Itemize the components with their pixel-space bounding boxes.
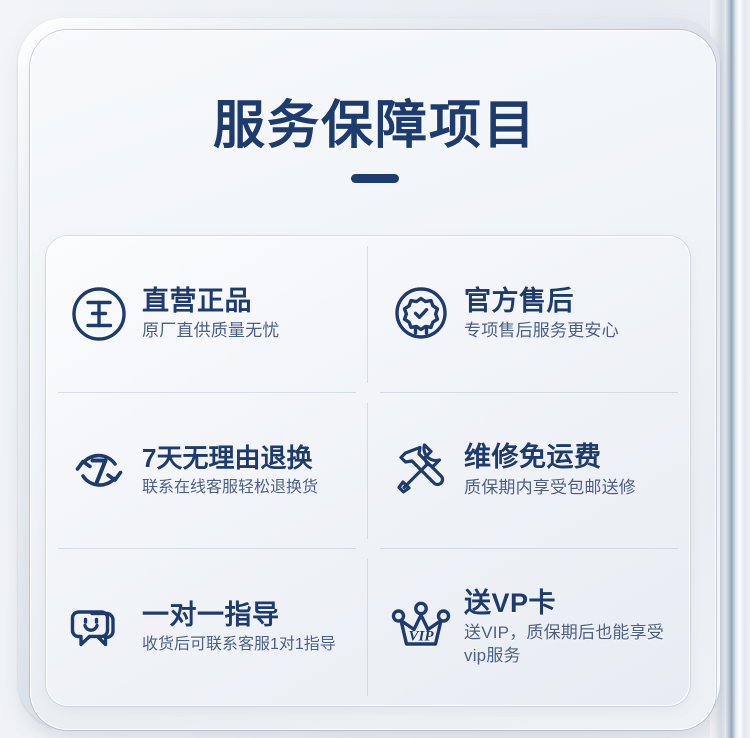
- feature-item-one-on-one-guidance[interactable]: 一对一指导 收货后可联系客服1对1指导: [46, 549, 368, 706]
- circle-zheng-character-icon: [68, 283, 130, 345]
- feature-text: 送VP卡 送VIP，质保期后也能享受vip服务: [464, 588, 680, 668]
- feature-title: 送VP卡: [464, 588, 680, 618]
- feature-title: 一对一指导: [142, 600, 358, 630]
- feature-title: 官方售后: [464, 286, 680, 316]
- official-badge-check-icon: [390, 283, 452, 345]
- wrench-screwdriver-icon: [390, 440, 452, 502]
- feature-text: 一对一指导 收货后可联系客服1对1指导: [142, 600, 358, 656]
- feature-text: 直营正品 原厂直供质量无忧: [142, 286, 358, 343]
- feature-subtitle: 收货后可联系客服1对1指导: [142, 634, 358, 655]
- feature-text: 官方售后 专项售后服务更安心: [464, 286, 680, 343]
- feature-item-official-service[interactable]: 官方售后 专项售后服务更安心: [368, 236, 690, 393]
- feature-subtitle: 质保期内享受包邮送修: [464, 477, 680, 500]
- feature-text: 7天无理由退换 联系在线客服轻松退换货: [142, 444, 358, 499]
- feature-item-vip-card[interactable]: VIP 送VP卡 送VIP，质保期后也能享受vip服务: [368, 549, 690, 706]
- feature-text: 维修免运费 质保期内享受包邮送修: [464, 442, 680, 499]
- feature-item-free-repair-shipping[interactable]: 维修免运费 质保期内享受包邮送修: [368, 393, 690, 550]
- feature-subtitle: 送VIP，质保期后也能享受vip服务: [464, 622, 679, 668]
- title-underline-accent: [351, 174, 399, 183]
- features-panel: 直营正品 原厂直供质量无忧 官方售后 专项售后服务: [46, 236, 690, 706]
- vip-crown-label: VIP: [408, 628, 434, 644]
- vip-crown-icon: VIP: [390, 597, 452, 659]
- feature-item-seven-day-return[interactable]: 7天无理由退换 联系在线客服轻松退换货: [46, 393, 368, 550]
- page-title: 服务保障项目: [0, 100, 750, 152]
- page-header: 服务保障项目: [0, 100, 750, 183]
- feature-subtitle: 联系在线客服轻松退换货: [142, 477, 358, 498]
- features-grid: 直营正品 原厂直供质量无忧 官方售后 专项售后服务: [46, 236, 690, 706]
- feature-title: 直营正品: [142, 286, 358, 316]
- feature-item-authentic[interactable]: 直营正品 原厂直供质量无忧: [46, 236, 368, 393]
- chat-bubble-smile-icon: [68, 597, 130, 659]
- feature-subtitle: 原厂直供质量无忧: [142, 320, 358, 343]
- feature-title: 维修免运费: [464, 442, 680, 472]
- feature-subtitle: 专项售后服务更安心: [464, 320, 680, 343]
- seven-day-return-arrows-icon: [68, 440, 130, 502]
- promo-banner: 服务保障项目 直营正品 原厂直供质量无忧: [0, 0, 750, 738]
- feature-title: 7天无理由退换: [142, 444, 358, 473]
